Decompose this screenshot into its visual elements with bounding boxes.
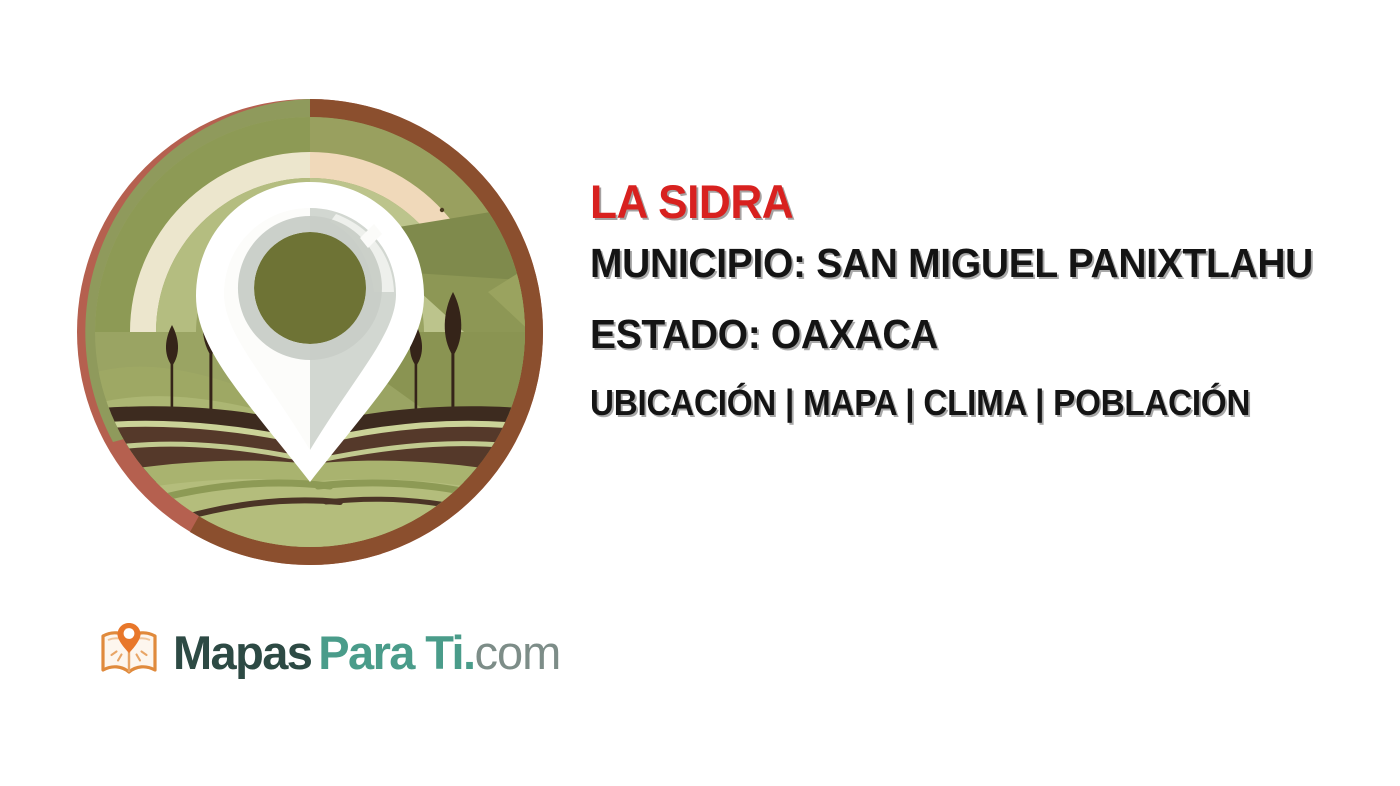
map-location-landscape-emblem	[68, 82, 552, 582]
section-links[interactable]: UBICACIÓN | MAPA | CLIMA | POBLACIÓN	[590, 385, 1381, 421]
info-text-block: LA SIDRA MUNICIPIO: SAN MIGUEL PANIXTLAH…	[590, 178, 1400, 421]
brand-text-mapas: Mapas	[173, 626, 311, 679]
brand-text-parati: Para Ti.	[318, 626, 474, 679]
brand-wordmark: MapasPara Ti.com	[173, 629, 560, 676]
page-title-locality: LA SIDRA	[590, 178, 1398, 225]
brand-lockup[interactable]: MapasPara Ti.com	[98, 620, 560, 684]
brand-text-dotcom: com	[474, 626, 560, 679]
detail-municipio: MUNICIPIO: SAN MIGUEL PANIXTLAHU	[590, 243, 1400, 284]
detail-estado: ESTADO: OAXACA	[590, 314, 1400, 355]
page-root: LA SIDRA MUNICIPIO: SAN MIGUEL PANIXTLAH…	[0, 0, 1400, 786]
open-book-with-map-pin-icon	[98, 620, 160, 684]
